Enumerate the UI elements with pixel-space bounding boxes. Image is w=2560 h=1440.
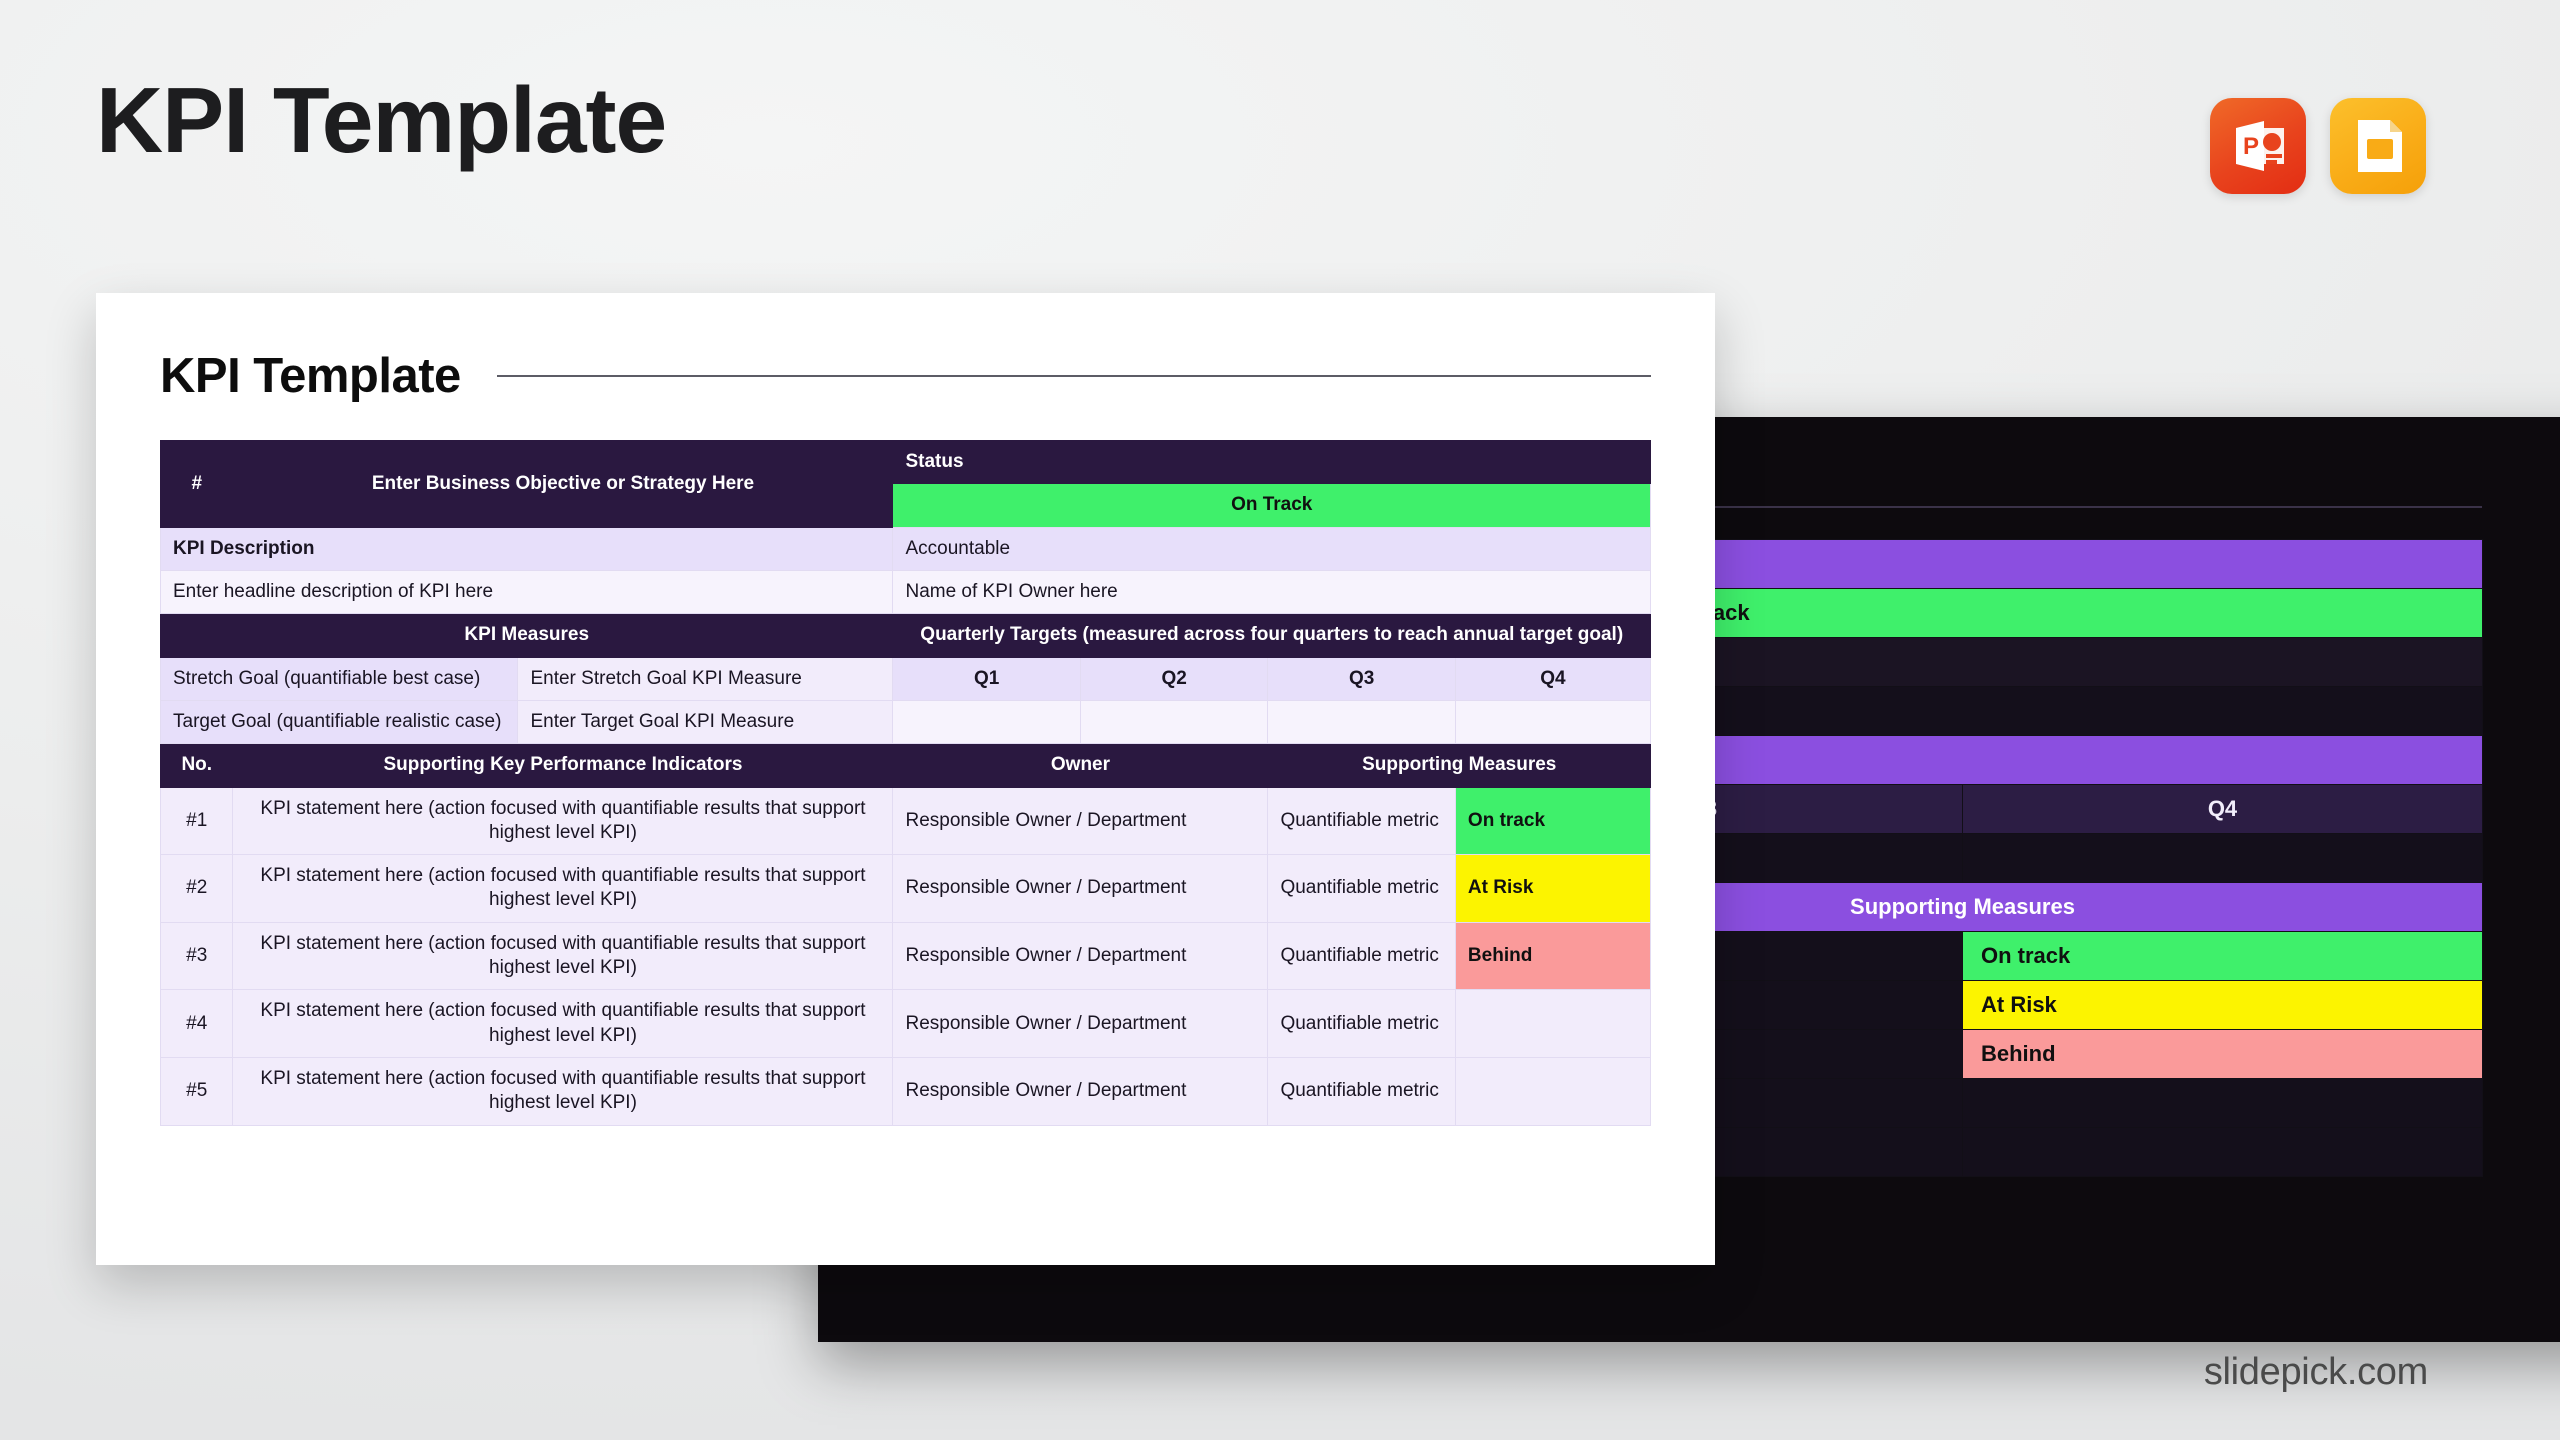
supporting-header-row: No. Supporting Key Performance Indicator… [161, 744, 1651, 787]
row-indicator: KPI statement here (action focused with … [233, 787, 893, 855]
dark-row-status: At Risk [1963, 981, 2483, 1030]
row-indicator: KPI statement here (action focused with … [233, 990, 893, 1058]
dark-row-status: On track [1963, 932, 2483, 981]
svg-text:P: P [2243, 133, 2259, 160]
stretch-goal-label: Stretch Goal (quantifiable best case) [161, 657, 518, 700]
row-no: #3 [161, 922, 233, 990]
table-row: #4 KPI statement here (action focused wi… [161, 990, 1651, 1058]
supporting-no-header: No. [161, 744, 233, 787]
format-icons-group: P [2210, 98, 2426, 194]
table-row: #2 KPI statement here (action focused wi… [161, 855, 1651, 923]
row-no: #4 [161, 990, 233, 1058]
quarter-header-q2: Q2 [1080, 657, 1267, 700]
row-status-badge: Behind [1455, 922, 1650, 990]
stretch-goal-measure: Enter Stretch Goal KPI Measure [518, 657, 893, 700]
target-goal-q4 [1455, 700, 1650, 743]
row-status-badge: At Risk [1455, 855, 1650, 923]
row-status-badge: On track [1455, 787, 1650, 855]
target-goal-q2 [1080, 700, 1267, 743]
description-value-row: Enter headline description of KPI here N… [161, 570, 1651, 613]
kpi-measures-header: KPI Measures [161, 614, 893, 657]
row-indicator: KPI statement here (action focused with … [233, 1058, 893, 1126]
supporting-measures-header: Supporting Measures [1268, 744, 1651, 787]
table-row: #5 KPI statement here (action focused wi… [161, 1058, 1651, 1126]
google-slides-glyph [2330, 98, 2426, 194]
target-goal-label: Target Goal (quantifiable realistic case… [161, 700, 518, 743]
quarter-header-q3: Q3 [1268, 657, 1455, 700]
accountable-value: Name of KPI Owner here [893, 570, 1651, 613]
dark-row-status [1963, 1079, 2483, 1128]
accountable-header: Accountable [893, 527, 1651, 570]
row-indicator: KPI statement here (action focused with … [233, 855, 893, 923]
target-goal-q1 [893, 700, 1080, 743]
watermark: slidepick.com [2204, 1351, 2428, 1394]
description-header-row: KPI Description Accountable [161, 527, 1651, 570]
row-owner: Responsible Owner / Department [893, 990, 1268, 1058]
row-status-badge [1455, 1058, 1650, 1126]
page-title: KPI Template [96, 72, 666, 170]
slide-title: KPI Template [160, 348, 461, 404]
hash-header: # [161, 441, 233, 528]
light-theme-slide: KPI Template # Enter Business Objective … [96, 293, 1715, 1265]
quarter-header-q1: Q1 [893, 657, 1080, 700]
row-status-badge [1455, 990, 1650, 1058]
table-row: #3 KPI statement here (action focused wi… [161, 922, 1651, 990]
powerpoint-icon[interactable]: P [2210, 98, 2306, 194]
row-owner: Responsible Owner / Department [893, 1058, 1268, 1126]
slide-title-rule [497, 375, 1651, 377]
row-indicator: KPI statement here (action focused with … [233, 922, 893, 990]
powerpoint-glyph: P [2210, 98, 2306, 194]
row-measure: Quantifiable metric [1268, 787, 1455, 855]
row-measure: Quantifiable metric [1268, 1058, 1455, 1126]
kpi-description-value: Enter headline description of KPI here [161, 570, 893, 613]
slide-header: KPI Template [160, 348, 1651, 404]
table-row: #1 KPI statement here (action focused wi… [161, 787, 1651, 855]
row-no: #5 [161, 1058, 233, 1126]
row-owner: Responsible Owner / Department [893, 787, 1268, 855]
stretch-goal-row: Stretch Goal (quantifiable best case) En… [161, 657, 1651, 700]
quarterly-targets-header: Quarterly Targets (measured across four … [893, 614, 1651, 657]
row-measure: Quantifiable metric [1268, 990, 1455, 1058]
dark-empty-cell-q4 [1963, 834, 2483, 883]
measures-header-row: KPI Measures Quarterly Targets (measured… [161, 614, 1651, 657]
supporting-owner-header: Owner [893, 744, 1268, 787]
target-goal-measure: Enter Target Goal KPI Measure [518, 700, 893, 743]
status-badge-on-track: On Track [893, 484, 1651, 527]
objective-header: Enter Business Objective or Strategy Her… [233, 441, 893, 528]
row-no: #1 [161, 787, 233, 855]
row-measure: Quantifiable metric [1268, 855, 1455, 923]
dark-row-status [1963, 1128, 2483, 1177]
quarter-header-q4: Q4 [1455, 657, 1650, 700]
kpi-description-header: KPI Description [161, 527, 893, 570]
row-measure: Quantifiable metric [1268, 922, 1455, 990]
google-slides-icon[interactable] [2330, 98, 2426, 194]
objective-header-row: # Enter Business Objective or Strategy H… [161, 441, 1651, 484]
dark-row-status: Behind [1963, 1030, 2483, 1079]
kpi-table: # Enter Business Objective or Strategy H… [160, 440, 1651, 1126]
row-owner: Responsible Owner / Department [893, 922, 1268, 990]
row-no: #2 [161, 855, 233, 923]
status-header: Status [893, 441, 1651, 484]
target-goal-row: Target Goal (quantifiable realistic case… [161, 700, 1651, 743]
row-owner: Responsible Owner / Department [893, 855, 1268, 923]
target-goal-q3 [1268, 700, 1455, 743]
dark-quarter-q4: Q4 [1963, 785, 2483, 834]
supporting-indicators-header: Supporting Key Performance Indicators [233, 744, 893, 787]
